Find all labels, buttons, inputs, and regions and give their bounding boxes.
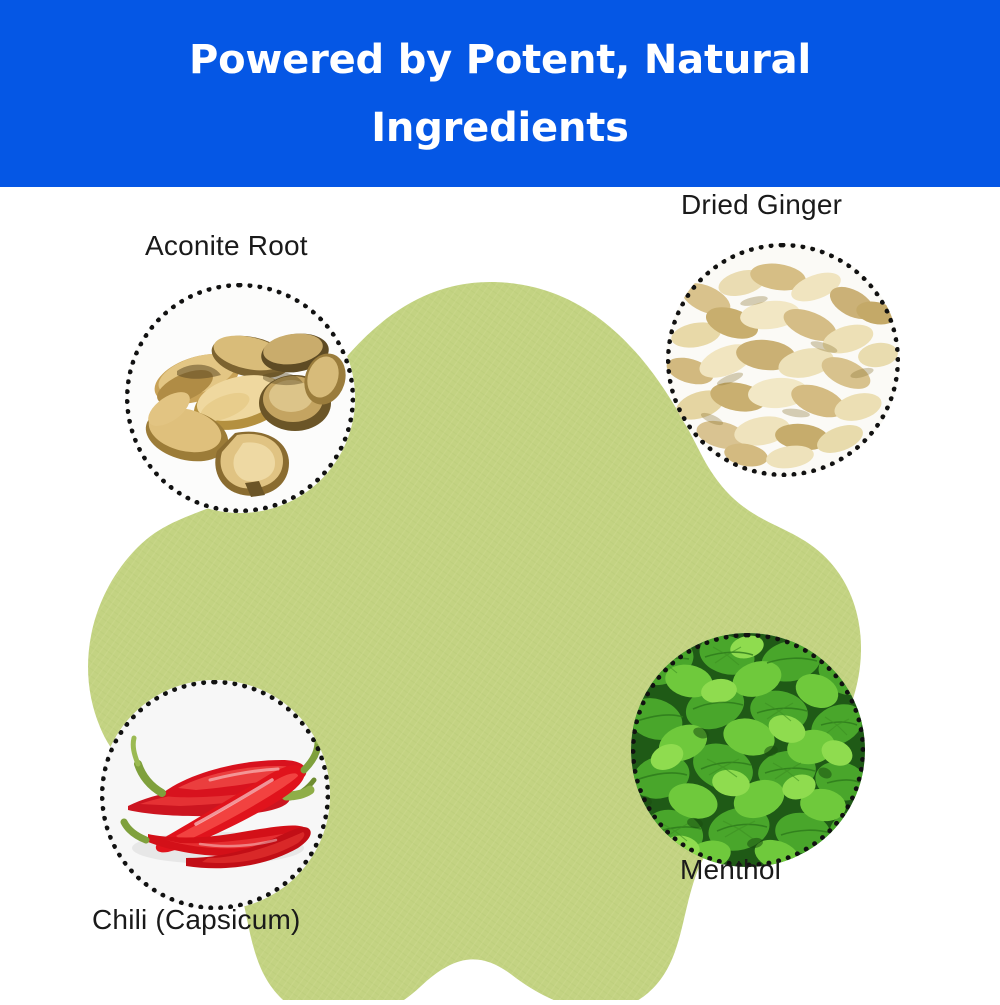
- ingredient-label-aconite-root: Aconite Root: [145, 231, 308, 262]
- ingredient-label-chili-capsicum: Chili (Capsicum): [92, 905, 301, 936]
- page-title-line-2: Ingredients: [371, 108, 629, 148]
- ingredient-photo-menthol: [631, 633, 865, 867]
- ingredient-label-menthol: Menthol: [680, 855, 781, 886]
- ingredient-photo-aconite-root: [125, 283, 355, 513]
- ingredients-stage: Aconite Root: [0, 187, 1000, 1000]
- ingredient-photo-chili-capsicum: [100, 680, 330, 910]
- ingredients-infographic: Powered by Potent, Natural Ingredients: [0, 0, 1000, 1000]
- header-banner: Powered by Potent, Natural Ingredients: [0, 0, 1000, 187]
- ingredient-photo-dried-ginger: [666, 243, 900, 477]
- page-title-line-1: Powered by Potent, Natural: [189, 40, 811, 80]
- ingredient-label-dried-ginger: Dried Ginger: [681, 190, 842, 221]
